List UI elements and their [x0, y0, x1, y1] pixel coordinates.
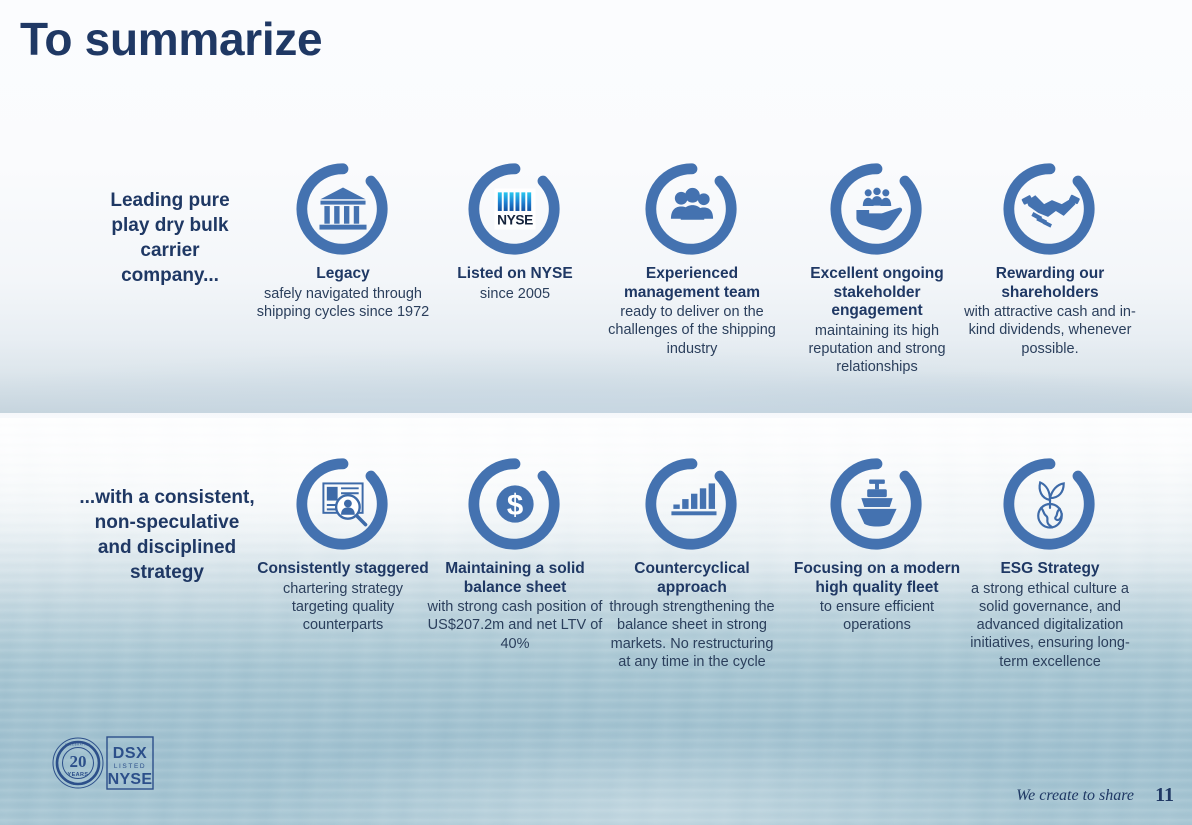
- slide-canvas: To summarize Leading pure play dry bulk …: [0, 0, 1192, 825]
- esg-globe-leaf-icon: [1001, 455, 1099, 553]
- page-number: 11: [1155, 784, 1174, 807]
- summary-item-rewarding-shareholders[interactable]: Rewarding our shareholders with attracti…: [962, 160, 1138, 358]
- summary-item-modern-fleet[interactable]: Focusing on a modern high quality fleet …: [789, 455, 965, 635]
- summary-item-consistently-staggered[interactable]: Consistently staggered chartering strate…: [255, 455, 431, 634]
- nyse-logo-icon: NYSE: [466, 160, 564, 258]
- dollar-coin-icon: $: [466, 455, 564, 553]
- item-title: Maintaining a solid balance sheet: [427, 560, 603, 597]
- summary-item-esg-strategy[interactable]: ESG Strategy a strong ethical culture a …: [962, 455, 1138, 671]
- item-description: through strengthening the balance sheet …: [604, 598, 780, 671]
- bank-icon: [294, 160, 392, 258]
- item-title: Legacy: [255, 265, 431, 284]
- item-description: chartering strategy targeting quality co…: [255, 580, 431, 635]
- bar-chart-icon: [643, 455, 741, 553]
- row1-side-label: Leading pure play dry bulk carrier compa…: [96, 188, 244, 288]
- item-description: with attractive cash and in-kind dividen…: [962, 303, 1138, 358]
- summary-row-1: Leading pure play dry bulk carrier compa…: [0, 160, 1192, 400]
- item-description: since 2005: [427, 285, 603, 303]
- item-title: Focusing on a modern high quality fleet: [789, 560, 965, 597]
- anniversary-badge-icon: 20 YEARS CELEBRATING NYSE: [53, 738, 103, 788]
- svg-text:20: 20: [70, 752, 87, 771]
- summary-item-stakeholder-engagement[interactable]: Excellent ongoing stakeholder engagement…: [789, 160, 965, 377]
- item-title: Listed on NYSE: [427, 265, 603, 284]
- ship-icon: [828, 455, 926, 553]
- document-magnifier-icon: [294, 455, 392, 553]
- item-title: Consistently staggered: [255, 560, 431, 579]
- dsx-anniversary-logo: 20 YEARS CELEBRATING NYSE DSX LISTED NYS…: [50, 728, 154, 798]
- item-description: ready to deliver on the challenges of th…: [604, 303, 780, 358]
- summary-row-2: ...with a consistent, non-speculative an…: [0, 455, 1192, 695]
- item-title: Experienced management team: [604, 265, 780, 302]
- summary-item-management-team[interactable]: Experienced management team ready to del…: [604, 160, 780, 358]
- svg-text:DSX: DSX: [113, 745, 147, 762]
- summary-item-balance-sheet[interactable]: $ Maintaining a solid balance sheet with…: [427, 455, 603, 653]
- item-description: safely navigated through shipping cycles…: [255, 285, 431, 322]
- svg-text:$: $: [507, 489, 523, 522]
- page-title: To summarize: [20, 14, 322, 65]
- svg-text:NYSE: NYSE: [108, 771, 153, 788]
- hand-holding-people-icon: [828, 160, 926, 258]
- people-group-icon: [643, 160, 741, 258]
- item-title: Excellent ongoing stakeholder engagement: [789, 265, 965, 321]
- tagline: We create to share: [1016, 787, 1134, 805]
- item-description: with strong cash position of US$207.2m a…: [427, 598, 603, 653]
- svg-text:NYSE: NYSE: [497, 213, 533, 228]
- item-title: Rewarding our shareholders: [962, 265, 1138, 302]
- dsx-listed-nyse-mark: DSX LISTED NYSE: [107, 737, 153, 789]
- svg-text:CELEBRATING: CELEBRATING: [65, 743, 91, 747]
- svg-text:LISTED: LISTED: [114, 763, 146, 770]
- item-description: to ensure efficient operations: [789, 598, 965, 635]
- item-description: maintaining its high reputation and stro…: [789, 322, 965, 377]
- svg-text:NYSE: NYSE: [73, 782, 83, 786]
- summary-item-listed-nyse[interactable]: NYSE Listed on NYSE since 2005: [427, 160, 603, 303]
- svg-text:YEARS: YEARS: [68, 772, 89, 778]
- row2-side-label: ...with a consistent, non-speculative an…: [76, 485, 258, 585]
- item-title: Countercyclical approach: [604, 560, 780, 597]
- summary-item-countercyclical[interactable]: Countercyclical approach through strengt…: [604, 455, 780, 671]
- item-title: ESG Strategy: [962, 560, 1138, 579]
- handshake-icon: [1001, 160, 1099, 258]
- item-description: a strong ethical culture a solid governa…: [962, 580, 1138, 671]
- summary-item-legacy[interactable]: Legacy safely navigated through shipping…: [255, 160, 431, 321]
